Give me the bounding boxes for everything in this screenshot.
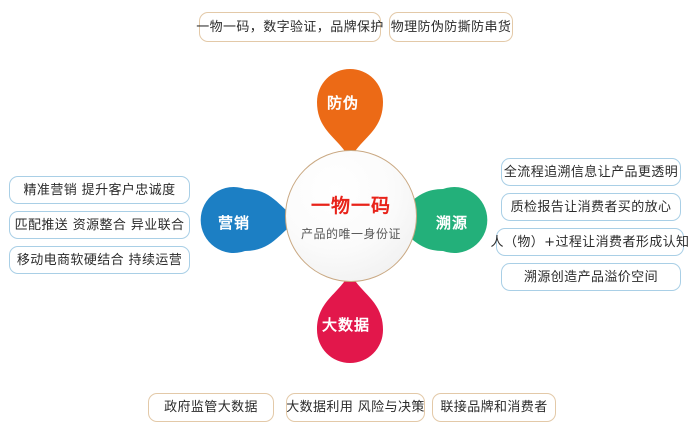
right-item-3: 溯源创造产品溢价空间 xyxy=(501,263,681,291)
diagram-canvas: 一物一码，数字验证，品牌保护 物理防伪防撕防串货 精准营销 提升客户忠诚度 匹配… xyxy=(0,0,688,430)
right-item-0: 全流程追溯信息让产品更透明 xyxy=(501,158,681,186)
left-item-0: 精准营销 提升客户忠诚度 xyxy=(9,176,190,204)
center-hub-subtitle: 产品的唯一身份证 xyxy=(301,225,401,242)
right-item-1: 质检报告让消费者买的放心 xyxy=(501,193,681,221)
node-big-data[interactable] xyxy=(307,272,393,376)
right-item-2: 人（物）+过程让消费者形成认知 xyxy=(496,228,684,256)
bottom-item-1: 大数据利用 风险与决策 xyxy=(286,393,425,422)
top-item-0: 一物一码，数字验证，品牌保护 xyxy=(199,12,381,42)
node-body-bottom xyxy=(317,272,383,363)
node-body-top xyxy=(317,69,383,160)
node-anti-counterfeiting[interactable] xyxy=(307,56,393,160)
left-item-1: 匹配推送 资源整合 异业联合 xyxy=(9,211,190,239)
left-item-2: 移动电商软硬结合 持续运营 xyxy=(9,246,190,274)
bottom-item-0: 政府监管大数据 xyxy=(148,393,274,422)
center-hub: 一物一码 产品的唯一身份证 xyxy=(285,150,417,282)
bottom-item-2: 联接品牌和消费者 xyxy=(432,393,556,422)
top-item-1: 物理防伪防撕防串货 xyxy=(389,12,513,42)
center-hub-title: 一物一码 xyxy=(311,191,391,218)
